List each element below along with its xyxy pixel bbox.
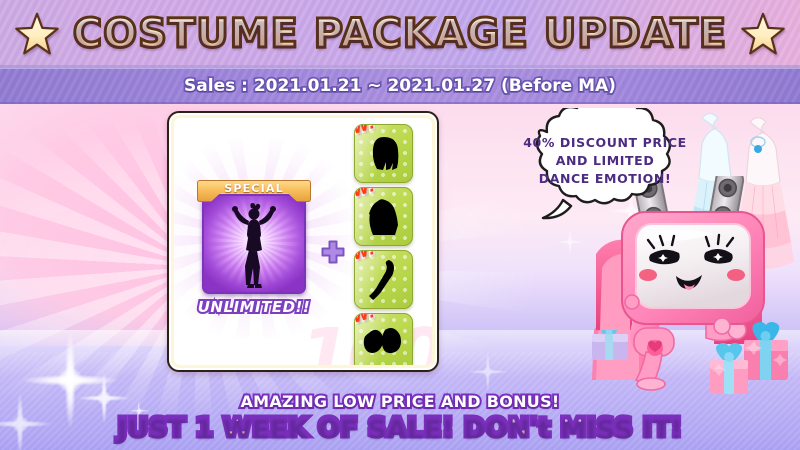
star-icon [741,12,785,56]
special-card-artwork [202,194,306,294]
footer-line-1: AMAZING LOW PRICE AND BONUS! [0,392,800,411]
costume-silhouette-icon [221,202,287,290]
hair-item-icon [364,134,404,174]
footer-line-2: JUST 1 WEEK OF SALE! DON't MISS IT! [0,413,800,443]
pants-item-icon [367,258,401,302]
bubble-line-1: 40% DISCOUNT PRICE [505,134,705,152]
special-ribbon-label: SPECIAL [224,182,284,195]
list-item[interactable]: NEW! [354,187,413,246]
header-bar: COSTUME PACKAGE UPDATE [0,0,800,68]
top-item-icon [363,197,405,237]
shoes-item-icon [363,327,405,359]
speech-bubble: 40% DISCOUNT PRICE AND LIMITED DANCE EMO… [505,108,705,220]
page-title: COSTUME PACKAGE UPDATE [73,11,727,57]
star-icon [15,12,59,56]
bonus-items-list: NEW! NEW! NEW! [354,124,420,368]
package-contents-panel: 100 SPECIAL [167,111,439,372]
sales-period-text: Sales : 2021.01.21 ~ 2021.01.27 (Before … [184,76,616,96]
list-item[interactable]: NEW! [354,124,413,183]
bubble-line-2: AND LIMITED [505,152,705,170]
promo-banner: COSTUME PACKAGE UPDATE Sales : 2021.01.2… [0,0,800,450]
panel-inner: 100 SPECIAL [171,115,435,368]
list-item[interactable]: NEW! [354,313,413,368]
unlimited-label: UNLIMITED!! [194,298,314,316]
bubble-line-3: DANCE EMOTION! [505,170,705,188]
sales-period-band: Sales : 2021.01.21 ~ 2021.01.27 (Before … [0,68,800,104]
special-item-card[interactable]: SPECIAL [194,180,314,328]
plus-icon [320,240,346,266]
list-item[interactable]: NEW! [354,250,413,309]
footer-text-block: AMAZING LOW PRICE AND BONUS! JUST 1 WEEK… [0,392,800,443]
speech-bubble-text: 40% DISCOUNT PRICE AND LIMITED DANCE EMO… [505,134,705,188]
